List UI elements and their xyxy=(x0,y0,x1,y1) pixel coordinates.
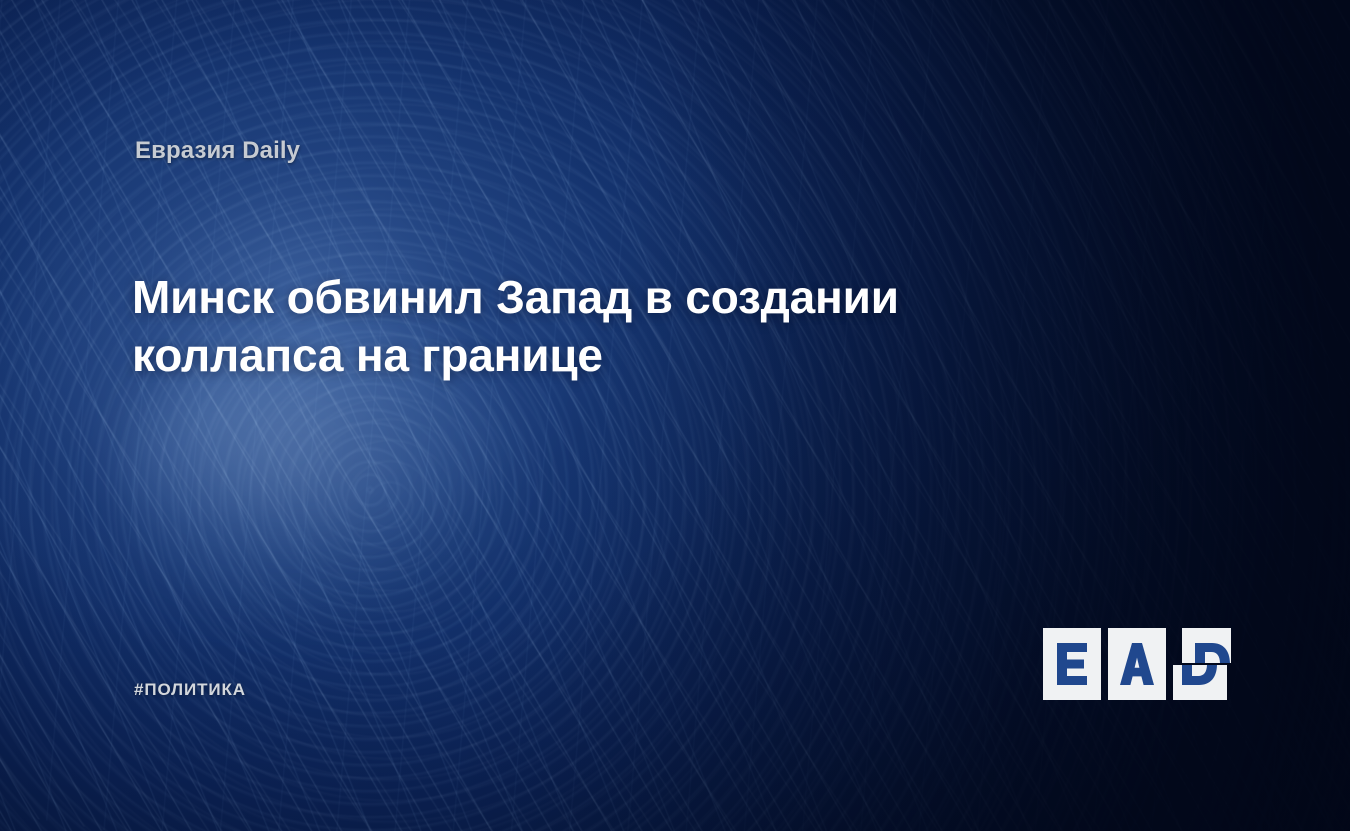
ead-logo xyxy=(1043,628,1231,700)
ead-logo-tile-d-lower xyxy=(1173,665,1227,700)
ead-logo-tile-d-upper xyxy=(1182,628,1231,663)
category-tag: #ПОЛИТИКА xyxy=(134,680,246,700)
site-name-wordmark: Евразия Daily xyxy=(135,137,300,165)
ead-logo-tile-e xyxy=(1043,628,1101,700)
card-content: Евразия Daily Минск обвинил Запад в созд… xyxy=(0,0,1350,831)
ead-logo-tile-d xyxy=(1173,628,1231,700)
news-cover-card: Евразия Daily Минск обвинил Запад в созд… xyxy=(0,0,1350,831)
article-headline: Минск обвинил Запад в создании коллапса … xyxy=(132,268,1092,385)
ead-logo-tile-a xyxy=(1108,628,1166,700)
